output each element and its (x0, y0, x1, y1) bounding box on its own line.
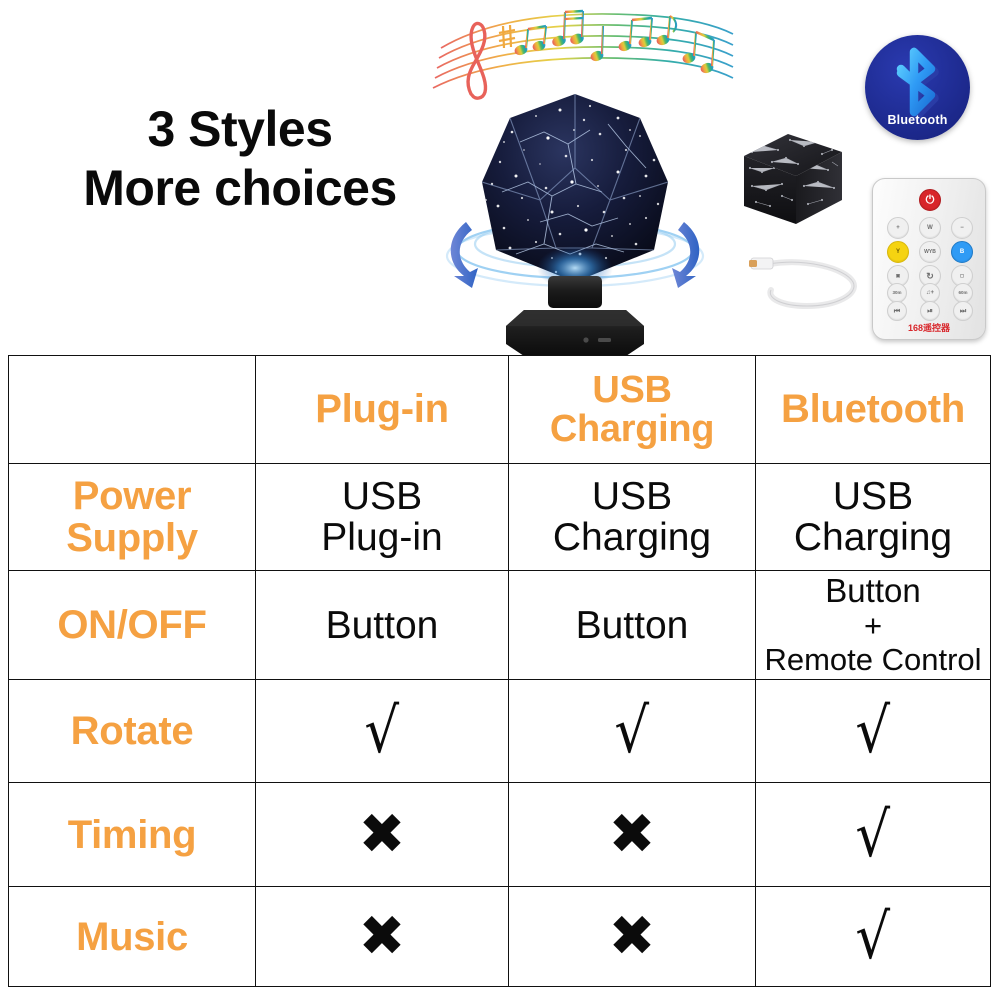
cell-on-off-bluetooth-line-3: Remote Control (760, 643, 986, 677)
table-row-power-supply: Power Supply USB Plug-in USB Charging US… (9, 464, 991, 571)
row-label-on-off-text: ON/OFF (13, 604, 251, 646)
cell-power-supply-plug-in-line-1: USB (260, 476, 504, 517)
row-label-on-off: ON/OFF (9, 571, 256, 680)
cell-rotate-plug-in: √ (256, 680, 509, 783)
cell-music-usb-charging: ✖ (509, 887, 756, 987)
cell-on-off-bluetooth: Button + Remote Control (756, 571, 991, 680)
cell-power-supply-usb-charging: USB Charging (509, 464, 756, 571)
star-projector-lamp (440, 72, 710, 357)
cell-power-supply-usb-charging-line-2: Charging (513, 517, 751, 558)
cell-music-bluetooth: √ (756, 887, 991, 987)
column-header-usb-charging-line-1: USB (513, 371, 751, 410)
check-icon: √ (856, 906, 891, 968)
remote-blue-button[interactable]: B (951, 241, 973, 263)
cross-icon: ✖ (359, 807, 406, 863)
table-row-music: Music ✖ ✖ √ (9, 887, 991, 987)
remote-brightness-down-button[interactable]: − (951, 217, 973, 239)
remote-timer-60-button[interactable]: 60m (953, 283, 973, 303)
remote-control: ⏻ + W − Y WYB B ▣ ↻ ▢ 30m ♫+ 60m ⏮ ⏯ ⏭ 1… (872, 178, 986, 340)
cell-on-off-plug-in: Button (256, 571, 509, 680)
check-icon: √ (856, 804, 891, 866)
row-label-rotate: Rotate (9, 680, 256, 783)
row-label-music-text: Music (13, 916, 251, 958)
cell-on-off-bluetooth-line-2: + (760, 609, 986, 643)
table-row-rotate: Rotate √ √ √ (9, 680, 991, 783)
cell-rotate-bluetooth: √ (756, 680, 991, 783)
cell-on-off-plug-in-text: Button (260, 605, 504, 646)
remote-yellow-button[interactable]: Y (887, 241, 909, 263)
comparison-table: Plug-in USB Charging Bluetooth Power Sup… (8, 355, 991, 987)
cell-power-supply-bluetooth-line-1: USB (760, 476, 986, 517)
table-row-on-off: ON/OFF Button Button Button + Remote Con… (9, 571, 991, 680)
cell-timing-plug-in: ✖ (256, 783, 509, 887)
column-header-bluetooth-label: Bluetooth (760, 389, 986, 430)
row-label-timing-text: Timing (13, 814, 251, 856)
table-row-timing: Timing ✖ ✖ √ (9, 783, 991, 887)
row-label-power-supply-line-2: Supply (13, 517, 251, 559)
row-label-timing: Timing (9, 783, 256, 887)
cell-power-supply-bluetooth-line-2: Charging (760, 517, 986, 558)
column-header-bluetooth: Bluetooth (756, 356, 991, 464)
page-title: 3 Styles More choices (30, 100, 450, 218)
cell-power-supply-plug-in: USB Plug-in (256, 464, 509, 571)
cell-rotate-usb-charging: √ (509, 680, 756, 783)
cell-on-off-usb-charging-text: Button (513, 605, 751, 646)
headline-line-2: More choices (30, 159, 450, 218)
cross-icon: ✖ (609, 807, 656, 863)
remote-brightness-up-button[interactable]: + (887, 217, 909, 239)
headline-line-1: 3 Styles (30, 100, 450, 159)
bluetooth-badge-label: Bluetooth (865, 113, 970, 127)
remote-play-pause-button[interactable]: ⏯ (920, 301, 940, 321)
column-header-plug-in-label: Plug-in (260, 389, 504, 430)
gift-box (738, 128, 848, 233)
remote-wyb-button[interactable]: WYB (919, 241, 941, 263)
row-label-rotate-text: Rotate (13, 710, 251, 752)
column-header-usb-charging: USB Charging (509, 356, 756, 464)
cell-on-off-bluetooth-line-1: Button (760, 573, 986, 609)
cell-power-supply-plug-in-line-2: Plug-in (260, 517, 504, 558)
row-label-music: Music (9, 887, 256, 987)
row-label-power-supply: Power Supply (9, 464, 256, 571)
check-icon: √ (365, 700, 400, 762)
cell-music-plug-in: ✖ (256, 887, 509, 987)
column-header-plug-in: Plug-in (256, 356, 509, 464)
check-icon: √ (615, 700, 650, 762)
remote-volume-up-button[interactable]: ♫+ (920, 283, 940, 303)
remote-white-button[interactable]: W (919, 217, 941, 239)
cell-timing-usb-charging: ✖ (509, 783, 756, 887)
column-header-usb-charging-line-2: Charging (513, 410, 751, 449)
bluetooth-badge: Bluetooth (865, 35, 970, 140)
remote-timer-30-button[interactable]: 30m (887, 283, 907, 303)
cell-timing-bluetooth: √ (756, 783, 991, 887)
remote-model-label: 168遥控器 (873, 321, 985, 334)
hero-banner: 3 Styles More choices (0, 0, 1000, 355)
cell-on-off-usb-charging: Button (509, 571, 756, 680)
cell-power-supply-bluetooth: USB Charging (756, 464, 991, 571)
cell-power-supply-usb-charging-line-1: USB (513, 476, 751, 517)
remote-previous-button[interactable]: ⏮ (887, 301, 907, 321)
cross-icon: ✖ (359, 909, 406, 965)
remote-power-button[interactable]: ⏻ (919, 189, 941, 211)
remote-next-button[interactable]: ⏭ (953, 301, 973, 321)
cross-icon: ✖ (609, 909, 656, 965)
table-corner-cell (9, 356, 256, 464)
table-header-row: Plug-in USB Charging Bluetooth (9, 356, 991, 464)
row-label-power-supply-line-1: Power (13, 475, 251, 517)
check-icon: √ (856, 700, 891, 762)
usb-cable (745, 248, 870, 318)
